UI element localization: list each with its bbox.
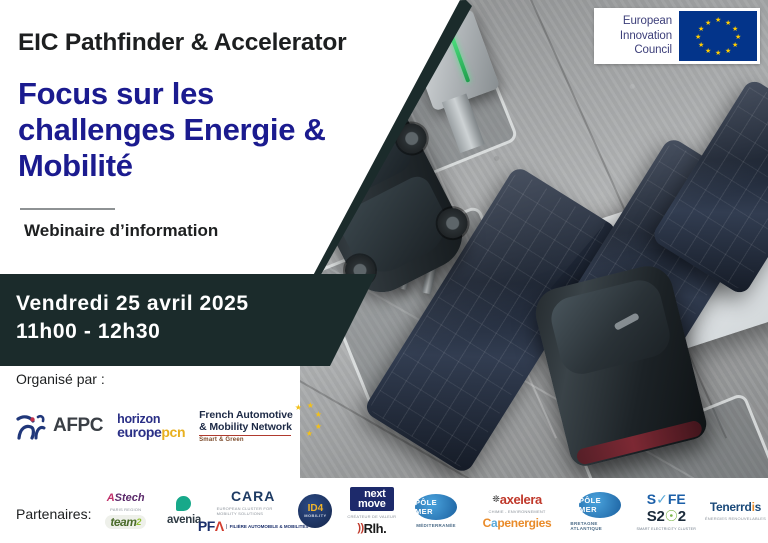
partner-logo-avenia: avenia <box>167 515 201 527</box>
organiser-logo-french-automotive-mobility-network: French Automotive & Mobility Network Sma… <box>199 409 319 444</box>
event-date: Vendredi 25 avril 2025 <box>16 292 249 316</box>
partner-logo-safe: S✓FE SAFE <box>647 492 686 506</box>
page-subtitle: Webinaire d’information <box>24 221 218 241</box>
pcn-word: pcn <box>161 424 185 440</box>
axelera-sub: CHIMIE - ENVIRONNEMENT <box>489 509 546 514</box>
partners-logo-row: AAStechStech PARIS REGION team2 avenia C… <box>100 480 768 542</box>
star-icon: ★ <box>315 422 322 431</box>
axelera-text: axelera <box>500 493 542 506</box>
fam-stars-icon: ★ ★ ★ ★ ★ <box>291 401 321 439</box>
europe-word: europe <box>117 424 161 440</box>
partner-group-9: S✓FE SAFE S2☉2 S2E2 SMART ELECTRICITY CL… <box>636 492 697 531</box>
partners-label: Partenaires: <box>16 506 91 522</box>
id4-text: ID4 <box>308 504 324 513</box>
star-icon: ★ <box>735 34 741 41</box>
tenerrdis-accent-icon: i <box>752 501 755 513</box>
star-icon: ★ <box>715 50 721 57</box>
event-time: 11h00 - 12h30 <box>16 320 160 344</box>
star-icon: ★ <box>315 410 322 419</box>
pfa-text: PFΛ <box>198 519 224 533</box>
s2e2-leaf-icon: ☉ <box>665 509 678 524</box>
star-icon: ★ <box>295 403 302 412</box>
partner-logo-s2e2: S2☉2 S2E2 <box>647 509 686 524</box>
partner-group-4: ID4 MOBILITY <box>296 494 335 528</box>
european-innovation-council-logo: European Innovation Council ★ ★ ★ ★ ★ ★ … <box>594 8 760 64</box>
pole-mer-bretagne-sub: BRETAGNE ATLANTIQUE <box>570 521 629 531</box>
afpc-mark-icon <box>14 408 50 444</box>
partner-logo-cara: CARA <box>231 489 275 503</box>
webinar-poster: EIC Pathfinder & Accelerator Focus sur l… <box>0 0 768 543</box>
s2e2-sub: SMART ELECTRICITY CLUSTER <box>636 527 696 531</box>
pfa-chevron-icon: Λ <box>215 518 224 534</box>
afpc-wordmark: AFPC <box>53 415 103 437</box>
nextmove-sub: CRÉATEUR DE VALEUR <box>347 514 396 519</box>
partner-group-8: PÔLE MER BRETAGNE ATLANTIQUE <box>570 492 629 531</box>
star-icon: ★ <box>732 42 738 49</box>
safe-check-icon: ✓ <box>656 492 668 506</box>
partner-group-7: ❊ axelera CHIMIE - ENVIRONNEMENT Capener… <box>470 493 565 529</box>
partner-logo-pole-mer-mediterranee: PÔLE MER <box>415 494 457 520</box>
partner-logo-tenerrdis: Tenerrdis Tenerrdis <box>710 501 761 513</box>
star-icon: ★ <box>715 17 721 24</box>
capenergies-accent: a <box>491 516 497 530</box>
rlh-text: Rlh. <box>364 522 387 535</box>
pole-mer-mediterranee-sub: MÉDITERRANÉE <box>416 523 456 528</box>
eic-line-2: Innovation <box>594 29 672 44</box>
europe-pcn-words: europepcn <box>117 425 185 439</box>
star-icon: ★ <box>306 429 313 438</box>
avenia-droplet-icon <box>176 496 191 511</box>
page-kicker: EIC Pathfinder & Accelerator <box>18 29 346 57</box>
partner-logo-pfa: PFΛ FILIÈRE AUTOMOBILE & MOBILITÉS <box>198 519 308 533</box>
star-icon: ★ <box>695 34 701 41</box>
star-icon: ★ <box>732 26 738 33</box>
star-icon: ★ <box>698 42 704 49</box>
star-icon: ★ <box>705 20 711 27</box>
organiser-logo-afpc: AFPC <box>14 408 103 444</box>
nextmove-line-2: move <box>358 499 386 509</box>
tenerrdis-sub: ÉNERGIES RENOUVELABLES <box>705 516 766 521</box>
organisers-logo-row: AFPC horizon europepcn French Automotive… <box>14 398 344 454</box>
fam-line-2: & Mobility Network <box>199 421 293 433</box>
partner-group-5: next move CRÉATEUR DE VALEUR ))Rlh. <box>341 487 402 535</box>
fam-underline <box>199 435 291 437</box>
title-divider <box>20 208 115 210</box>
partner-logo-id4mobility: ID4 MOBILITY <box>298 494 332 528</box>
partner-logo-axelera: ❊ axelera <box>492 493 542 506</box>
eic-line-3: Council <box>594 43 672 58</box>
partner-group-6: PÔLE MER MÉDITERRANÉE <box>408 494 463 528</box>
star-icon: ★ <box>307 401 314 410</box>
astech-a: A <box>107 493 115 504</box>
eic-line-1: European <box>594 14 672 29</box>
astech-sub: PARIS REGION <box>110 507 141 512</box>
cara-sub: EUROPEAN CLUSTER FOR MOBILITY SOLUTIONS <box>217 506 290 516</box>
star-icon: ★ <box>725 20 731 27</box>
organiser-logo-horizon-europe-pcn: horizon europepcn <box>117 413 185 440</box>
date-band-tail <box>330 274 376 366</box>
id4-sub: MOBILITY <box>304 513 326 518</box>
eic-logo-text: European Innovation Council <box>594 14 679 58</box>
partner-group-1: AAStechStech PARIS REGION team2 <box>100 493 151 529</box>
capenergies-text: Capenergies <box>483 517 552 529</box>
organisers-label: Organisé par : <box>16 371 105 387</box>
team2-sup: 2 <box>136 518 141 527</box>
fam-line-1: French Automotive <box>199 409 293 421</box>
page-title: Focus sur les challenges Energie & Mobil… <box>18 76 368 184</box>
star-icon: ★ <box>725 48 731 55</box>
partner-group-3: CARA EUROPEAN CLUSTER FOR MOBILITY SOLUT… <box>217 489 290 533</box>
partner-logo-rlh: ))Rlh. <box>357 522 386 535</box>
partner-logo-capenergies: Capenergies Capenergies <box>483 517 552 529</box>
partner-group-10: Tenerrdis Tenerrdis ÉNERGIES RENOUVELABL… <box>703 501 768 521</box>
partner-logo-astech: AAStechStech <box>107 493 145 504</box>
partner-logo-pole-mer-bretagne-atlantique: PÔLE MER <box>579 492 621 518</box>
axelera-flower-icon: ❊ <box>492 495 500 504</box>
fam-tagline: Smart & Green <box>199 437 293 443</box>
star-icon: ★ <box>698 26 704 33</box>
team2-text: team <box>110 516 136 528</box>
eu-flag-icon: ★ ★ ★ ★ ★ ★ ★ ★ ★ ★ ★ ★ <box>679 11 757 61</box>
partner-logo-team2: team2 <box>105 515 146 529</box>
partner-logo-nextmove: next move <box>350 487 394 511</box>
star-icon: ★ <box>705 48 711 55</box>
